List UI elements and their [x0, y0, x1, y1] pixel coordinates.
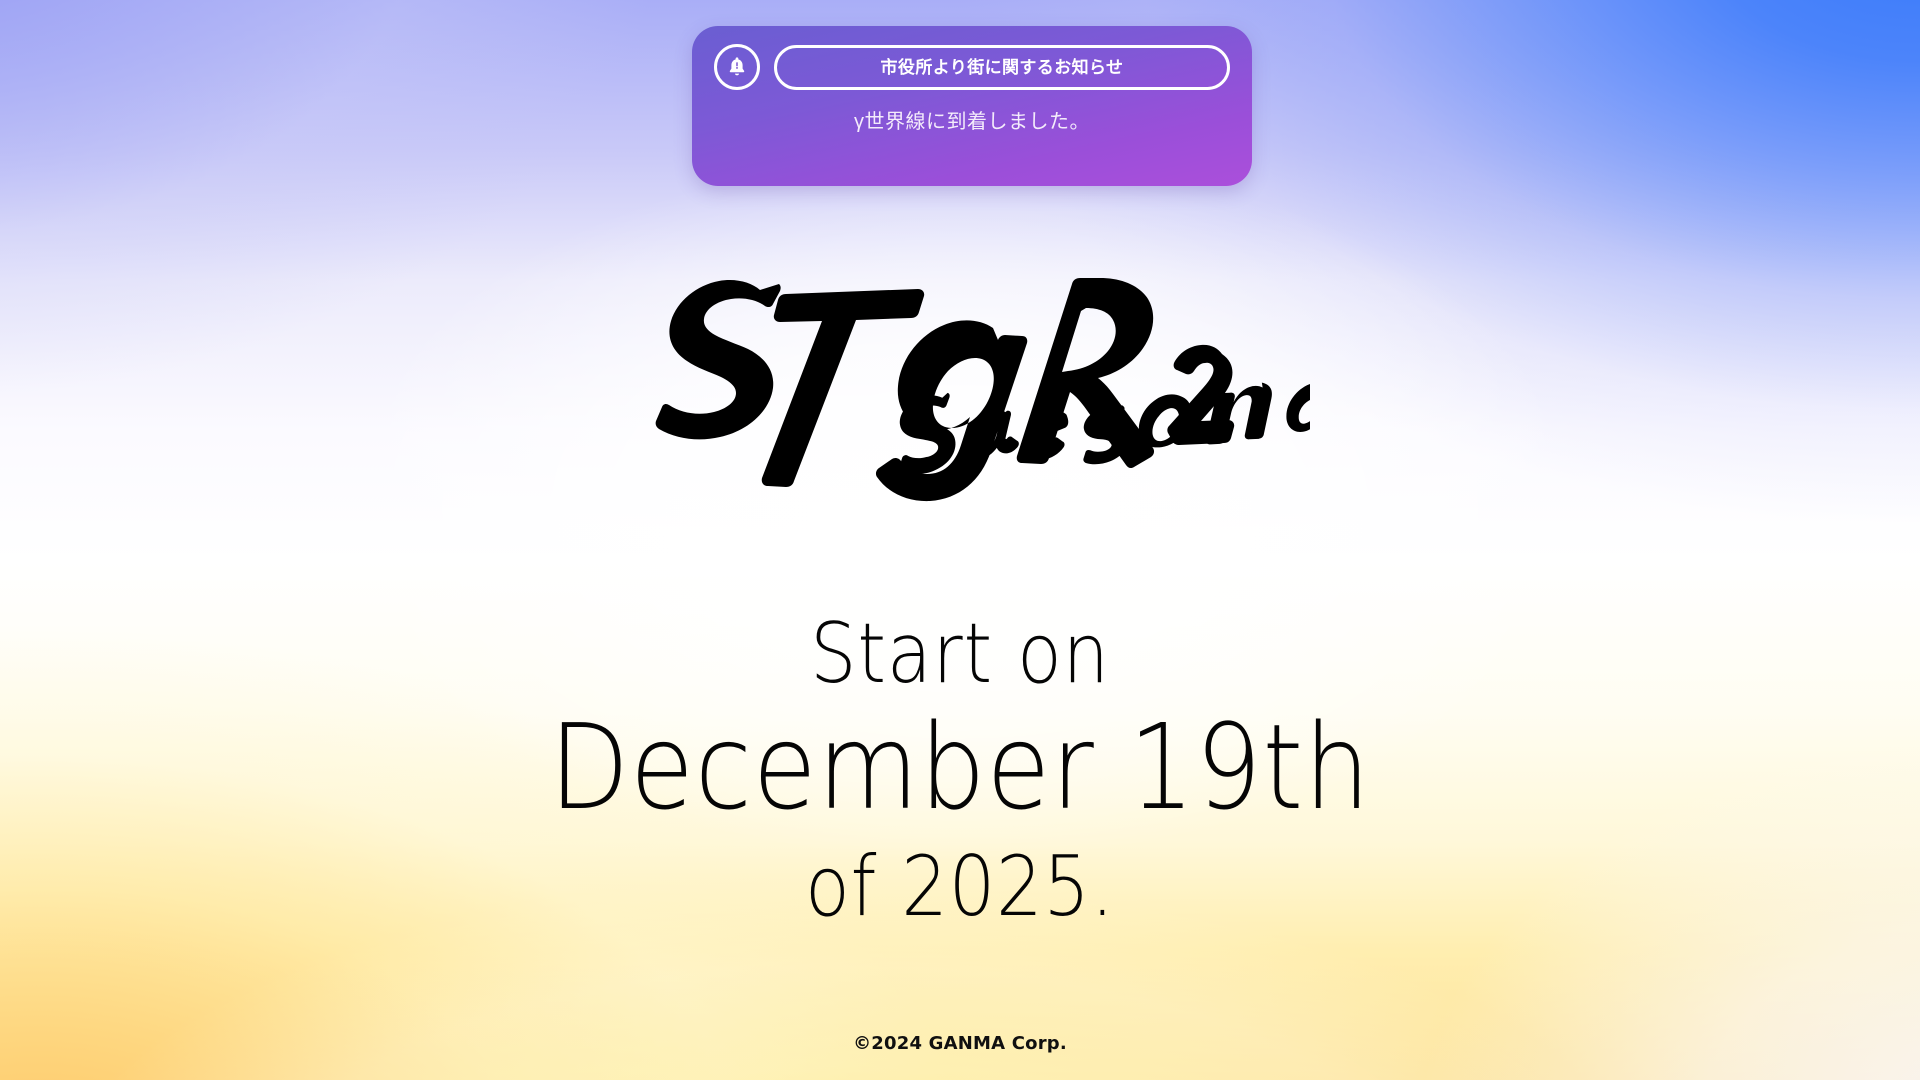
notification-title: 市役所より街に関するお知らせ — [881, 59, 1124, 76]
bell-icon — [714, 44, 760, 90]
notification-title-pill[interactable]: 市役所より街に関するお知らせ — [774, 45, 1230, 90]
headline-block: Start on December 19th of 2025. — [0, 612, 1920, 932]
notification-banner[interactable]: 市役所より街に関するお知らせ γ世界線に到着しました。 — [692, 26, 1252, 186]
headline-line-year: of 2025. — [115, 841, 1805, 932]
copyright-text: ©2024 GANMA Corp. — [853, 1033, 1067, 1054]
headline-line-start: Start on — [115, 612, 1805, 695]
notification-message: γ世界線に到着しました。 — [714, 112, 1230, 132]
headline-line-date: December 19th — [115, 701, 1805, 833]
footer: ©2024 GANMA Corp. — [0, 1033, 1920, 1054]
notification-banner-header: 市役所より街に関するお知らせ — [714, 44, 1230, 90]
announcement-screen: 市役所より街に関するお知らせ γ世界線に到着しました。 — [0, 0, 1920, 1080]
